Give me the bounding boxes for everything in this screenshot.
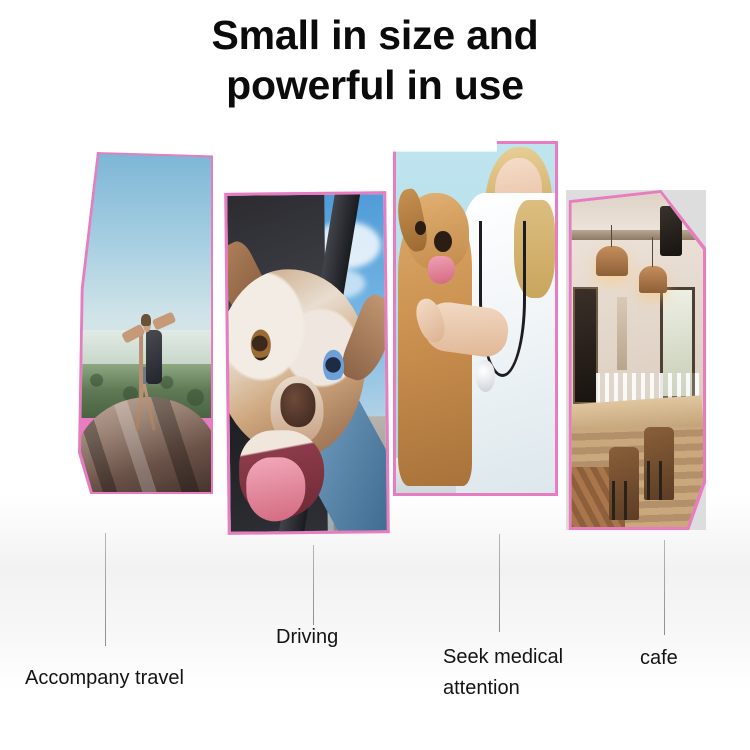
pendant-lamp bbox=[596, 246, 628, 276]
dog-nose bbox=[281, 383, 316, 427]
golden-dog-eye bbox=[415, 221, 426, 235]
backpack bbox=[146, 330, 162, 384]
caption-cafe: cafe bbox=[640, 643, 678, 674]
dog-left-eye bbox=[250, 330, 271, 360]
headline-line-2: powerful in use bbox=[0, 60, 750, 110]
panel-accompany-travel[interactable] bbox=[78, 152, 213, 494]
hiker-hair bbox=[141, 314, 150, 325]
leader-line-driving bbox=[313, 545, 314, 625]
bar-stool bbox=[609, 447, 638, 520]
ceiling-beam bbox=[569, 230, 703, 240]
panel-seek-medical-attention[interactable] bbox=[393, 141, 558, 496]
pendant-lamp bbox=[639, 266, 667, 293]
page-title: Small in size and powerful in use bbox=[0, 10, 750, 110]
leader-line-seek-medical-attention bbox=[499, 534, 500, 632]
caption-seek-medical-attention: Seek medical attention bbox=[443, 642, 593, 704]
wall-art bbox=[617, 297, 626, 370]
golden-dog-tongue bbox=[428, 256, 455, 284]
left-window bbox=[573, 287, 598, 405]
veterinarian-with-dog-photo bbox=[396, 144, 555, 493]
caption-driving: Driving bbox=[276, 622, 338, 653]
headline-line-1: Small in size and bbox=[212, 12, 539, 58]
dog-in-car-window-photo bbox=[227, 194, 387, 532]
panel-cafe[interactable] bbox=[566, 190, 706, 530]
hiker-torso bbox=[139, 330, 143, 404]
cafe-interior-photo bbox=[569, 193, 703, 527]
leader-line-cafe bbox=[664, 540, 665, 635]
panel-driving[interactable] bbox=[224, 191, 390, 535]
leader-line-accompany-travel bbox=[105, 533, 106, 646]
stethoscope-chestpiece bbox=[476, 360, 495, 391]
product-feature-banner: Small in size and powerful in use bbox=[0, 0, 750, 750]
caption-accompany-travel: Accompany travel bbox=[25, 663, 184, 694]
bar-stool bbox=[644, 427, 673, 500]
hiker-on-cliff-photo bbox=[81, 154, 211, 492]
golden-dog-nose bbox=[434, 231, 451, 252]
